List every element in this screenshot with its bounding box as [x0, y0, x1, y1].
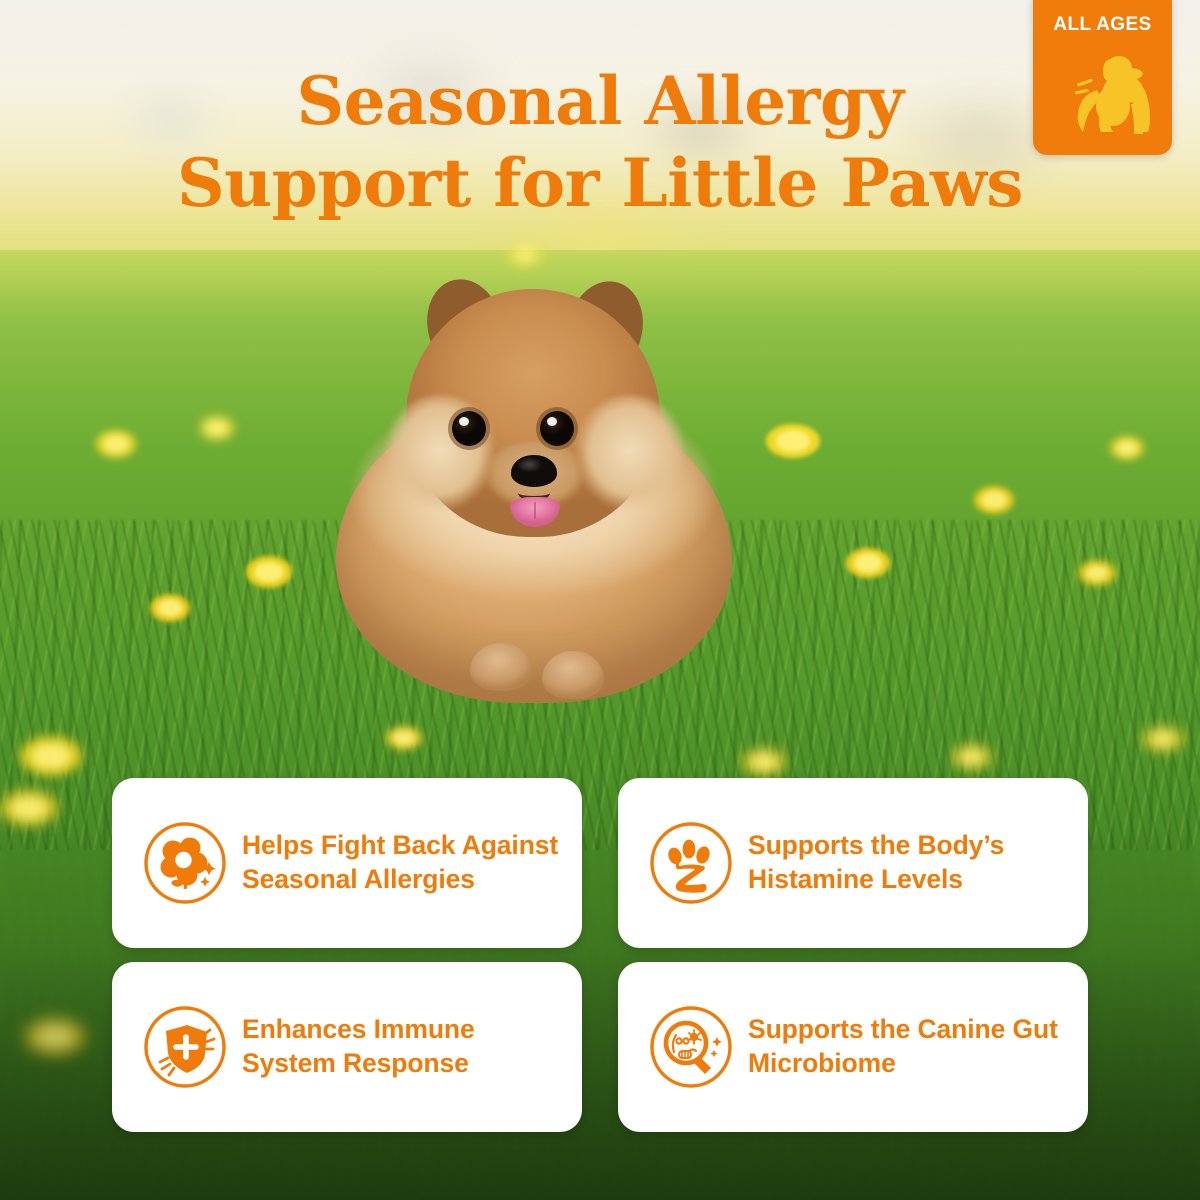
all-ages-badge: ALL AGES: [1033, 0, 1172, 155]
flower-sparkle-icon: [142, 820, 228, 906]
dog-cheek-left: [380, 395, 500, 527]
dandelion-flower: [386, 726, 422, 750]
dandelion-flower: [20, 736, 82, 776]
dandelion-flower: [742, 748, 786, 776]
dog-nose: [511, 455, 557, 487]
dandelion-flower: [846, 548, 890, 578]
pomeranian-puppy: [318, 245, 750, 715]
dandelion-flower: [246, 556, 292, 588]
magnifier-microbe-icon: [648, 1004, 734, 1090]
dandelion-flower: [1078, 560, 1116, 586]
dandelion-flower: [150, 594, 190, 622]
feature-card-text: Supports the Body’s Histamine Levels: [748, 829, 1072, 896]
feature-card-gut-microbiome[interactable]: Supports the Canine Gut Microbiome: [618, 962, 1088, 1132]
dog-cheek-right: [570, 395, 690, 527]
dandelion-flower: [952, 744, 992, 770]
dog-eye-left: [452, 411, 486, 446]
dandelion-flower: [96, 430, 136, 458]
dandelion-flower: [766, 424, 820, 458]
feature-card-fight-allergies[interactable]: Helps Fight Back Against Seasonal Allerg…: [112, 778, 582, 948]
dandelion-flower: [1110, 436, 1144, 460]
feature-card-text: Enhances Immune System Response: [242, 1013, 566, 1080]
infographic-canvas: Seasonal Allergy Support for Little Paws…: [0, 0, 1200, 1200]
all-ages-badge-label: ALL AGES: [1053, 14, 1151, 36]
paw-print-icon: [648, 820, 734, 906]
dog-eye-right: [540, 411, 574, 446]
dog-front-paw-left: [470, 643, 532, 691]
sitting-dog-icon: [1051, 42, 1155, 151]
dandelion-flower: [974, 486, 1014, 514]
feature-card-histamine-levels[interactable]: Supports the Body’s Histamine Levels: [618, 778, 1088, 948]
feature-card-text: Supports the Canine Gut Microbiome: [748, 1013, 1072, 1080]
feature-card-immune-response[interactable]: Enhances Immune System Response: [112, 962, 582, 1132]
dandelion-flower: [1142, 726, 1184, 752]
dandelion-flower: [200, 416, 234, 440]
dandelion-flower: [0, 790, 58, 826]
dog-front-paw-right: [542, 651, 604, 699]
feature-card-grid: Helps Fight Back Against Seasonal Allerg…: [112, 778, 1088, 1132]
feature-card-text: Helps Fight Back Against Seasonal Allerg…: [242, 829, 566, 896]
shield-plus-icon: [142, 1004, 228, 1090]
